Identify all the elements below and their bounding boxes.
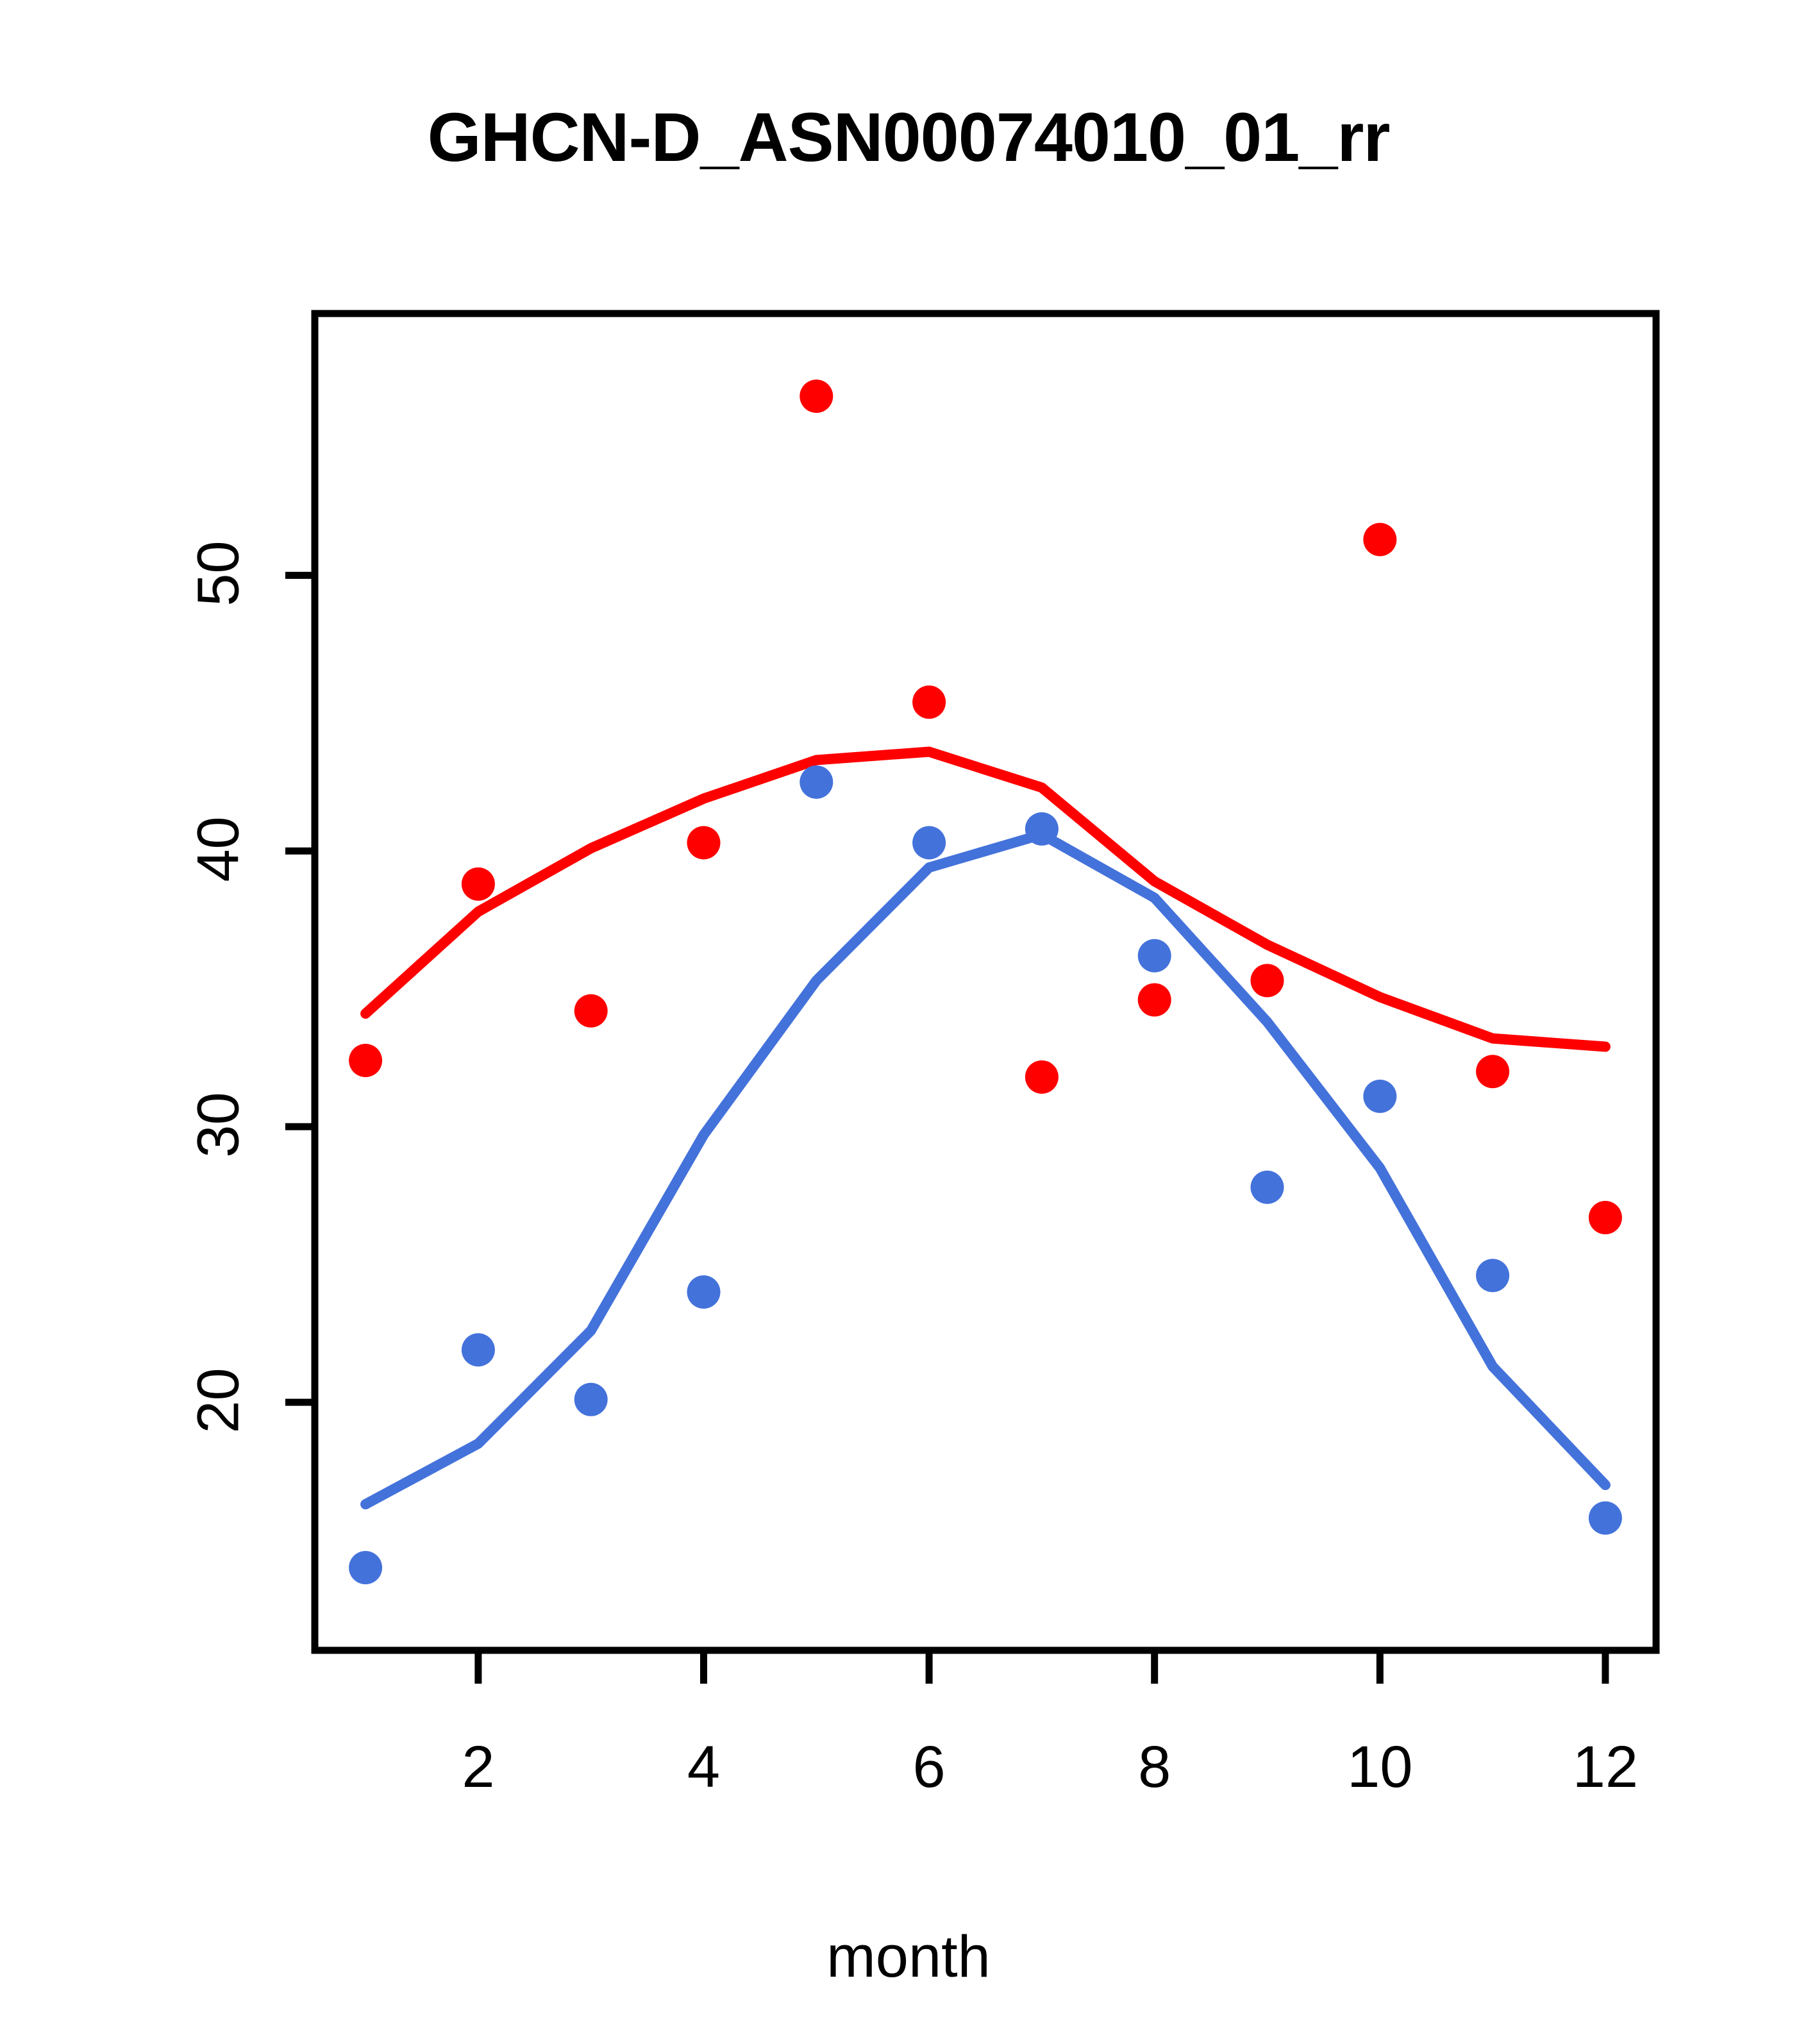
data-point [1250,1171,1284,1204]
data-point [574,1383,608,1416]
x-tick-label: 8 [1059,1734,1251,1801]
x-tick-label: 4 [608,1734,800,1801]
x-tick-label: 12 [1509,1734,1702,1801]
x-axis-title: month [0,1923,1817,1991]
data-point [1476,1259,1509,1292]
x-axis-ticks [478,1650,1605,1684]
data-point [800,766,833,799]
x-tick-label: 2 [382,1734,574,1801]
y-axis-ticks [285,575,315,1402]
data-point [462,1333,495,1366]
data-point [1476,1055,1509,1088]
data-point [1363,1080,1396,1113]
y-tick-label: 20 [185,1337,253,1465]
y-tick-label: 40 [185,785,253,914]
y-tick-label: 50 [185,510,253,638]
data-point [1025,1060,1059,1094]
data-point [1025,812,1059,846]
x-tick-label: 10 [1284,1734,1476,1801]
data-point [912,685,946,719]
data-point [800,380,833,413]
y-tick-label: 30 [185,1061,253,1189]
data-point [1138,939,1171,973]
data-point [349,1044,382,1077]
data-point [912,826,946,859]
data-point [1589,1502,1622,1535]
data-point [687,1275,721,1309]
data-point [1138,983,1171,1016]
series-lines-group [365,752,1605,1505]
data-point [1250,964,1284,997]
data-point [574,994,608,1028]
trend-line-blue-line [365,835,1605,1505]
chart-figure: GHCN-D_ASN00074010_01_rr 20304050 246810… [0,0,1817,2044]
data-point [462,867,495,901]
trend-line-red-line [365,752,1605,1047]
data-point [349,1551,382,1584]
data-point [1589,1201,1622,1234]
series-points-group [349,380,1622,1584]
x-tick-label: 6 [833,1734,1025,1801]
plot-area-border [315,314,1656,1650]
data-point [687,826,721,859]
data-point [1363,523,1396,557]
